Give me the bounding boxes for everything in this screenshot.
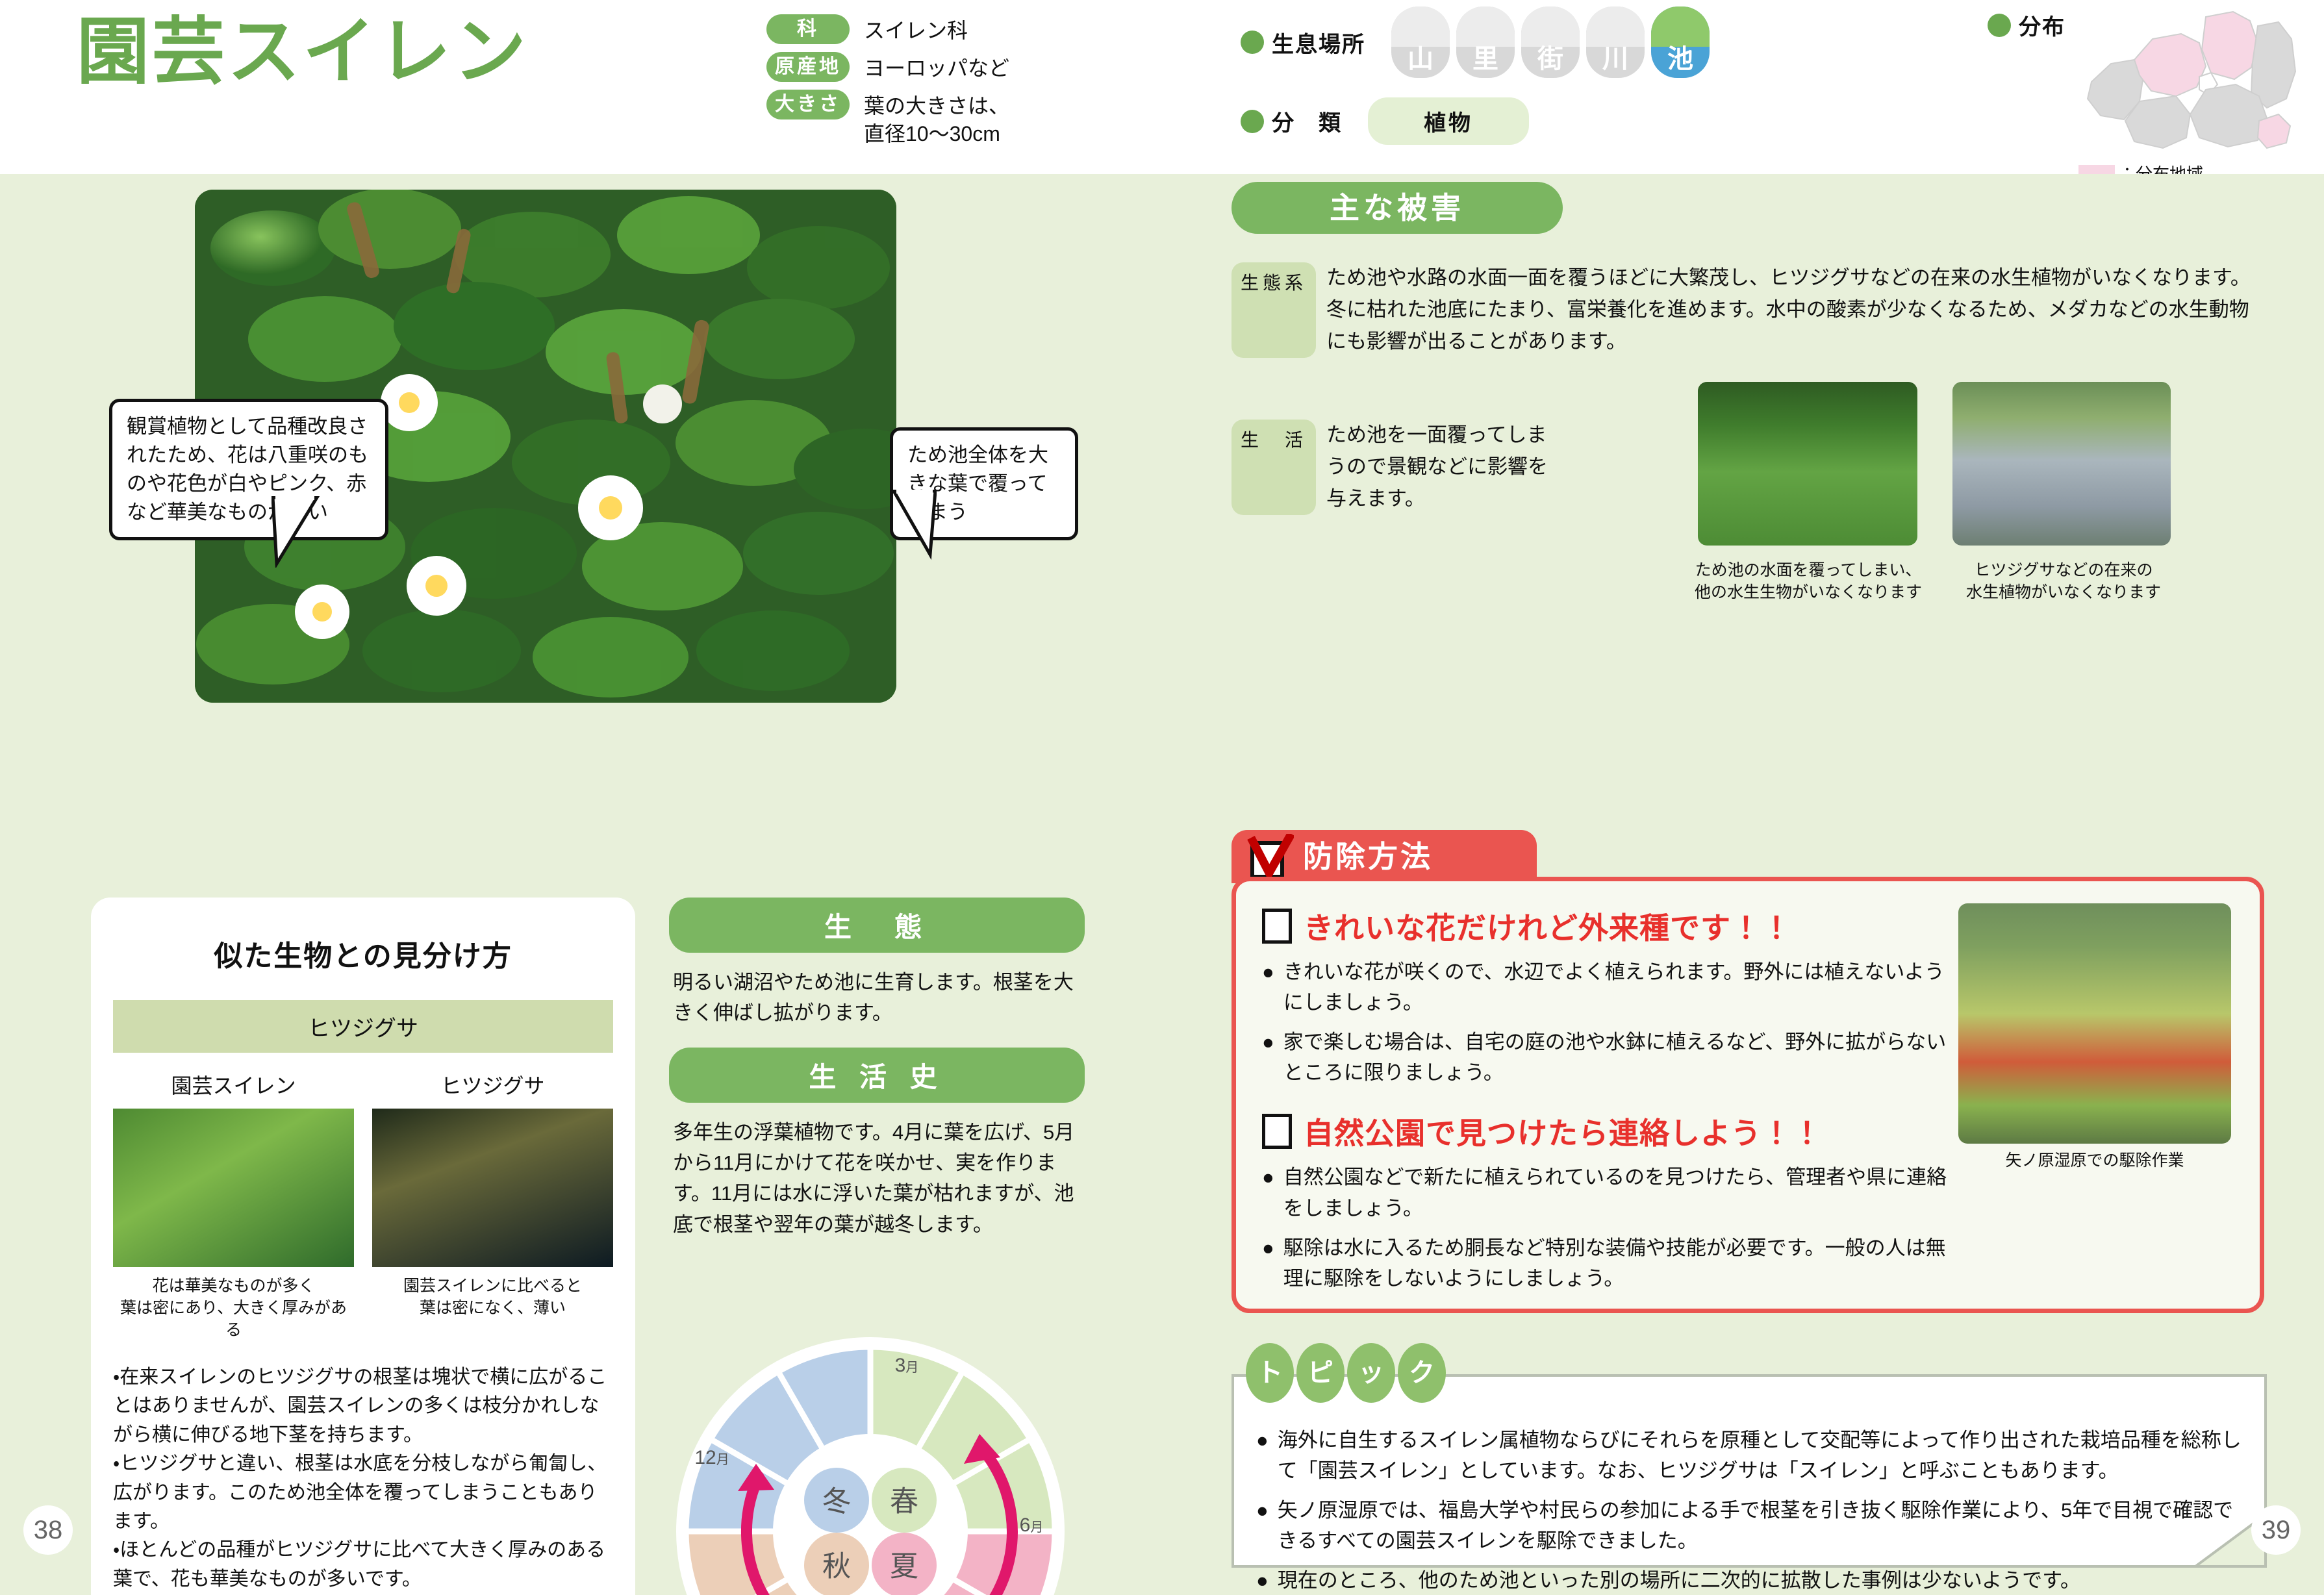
damage-photo-caption-1: ヒツジグサなどの在来の 水生植物がいなくなります — [1938, 560, 2189, 603]
meta-label-size: 大きさ — [766, 90, 850, 119]
similar-caption-0: 花は華美なものが多く 葉は密にあり、大きく厚みがある — [113, 1275, 354, 1341]
season-label-autumn: 秋 — [822, 1551, 851, 1583]
damage-caption-text-1: ヒツジグサなどの在来の 水生植物がいなくなります — [1966, 561, 2161, 601]
bullet-icon: ● — [1262, 1233, 1274, 1294]
damage-text-ecosystem: ため池や水路の水面一面を覆うほどに大繁茂し、ヒツジグサなどの在来の水生植物がいな… — [1326, 262, 2268, 358]
similar-column-garden-waterlily: 園芸スイレン 花は華美なものが多く 葉は密にあり、大きく厚みがある — [113, 1070, 354, 1341]
habitat-icon-village[interactable]: 里 — [1456, 6, 1515, 78]
ecology-text: 明るい湖沼やため池に生育します。根茎を大きく伸ばし拡がります。 — [673, 967, 1081, 1028]
bullet-dot-icon — [1988, 14, 2011, 37]
bullet-icon: ● — [1262, 957, 1274, 1018]
page-header: 園芸スイレン 科 スイレン科 原産地 ヨーロッパなど 大きさ 葉の大きさは、 直… — [0, 0, 2324, 175]
topic-bullet-text-0: 海外に自生するスイレン属植物ならびにそれらを原種として交配等によって作り出された… — [1278, 1425, 2242, 1486]
damage-text-life: ため池を一面覆ってしまうので景観などに影響を与えます。 — [1326, 420, 1560, 515]
control-photo — [1958, 903, 2231, 1144]
classification-label: 分 類 — [1272, 105, 1342, 137]
habitat-row: 生息場所 山 里 街 川 — [1241, 6, 1710, 78]
damage-photo-1 — [1952, 382, 2171, 546]
page-number-left: 38 — [23, 1505, 73, 1555]
classification-value: 植物 — [1368, 97, 1529, 145]
meta-label-family: 科 — [766, 14, 850, 44]
bullet-dot-icon — [1241, 110, 1264, 133]
habitat-icon-label-pond: 池 — [1651, 38, 1710, 75]
field-guide-spread: 園芸スイレン 科 スイレン科 原産地 ヨーロッパなど 大きさ 葉の大きさは、 直… — [0, 0, 2324, 1595]
season-label-summer: 夏 — [890, 1551, 918, 1583]
topic-bullet-text-2: 現在のところ、他のため池といった別の場所に二次的に拡散した事例は少ないようです。 — [1278, 1565, 2080, 1595]
control-bullets-1: ● 自然公園などで新たに植えられているのを見つけたら、管理者や県に連絡をしましょ… — [1262, 1162, 1951, 1293]
control-bullet-0-0: ● きれいな花が咲くので、水辺でよく植えられます。野外には植えないようにしましょ… — [1262, 957, 1951, 1018]
bullet-icon: ● — [1256, 1495, 1269, 1556]
similar-photo-1 — [372, 1109, 613, 1267]
control-head-text: 防除方法 — [1303, 840, 1433, 873]
page-number-right: 39 — [2251, 1505, 2301, 1555]
habitat-icon-label-village: 里 — [1456, 38, 1515, 75]
control-bullets-0: ● きれいな花が咲くので、水辺でよく植えられます。野外には植えないようにしましょ… — [1262, 957, 1951, 1088]
similar-species-title: 似た生物との見分け方 — [113, 933, 613, 974]
bullet-icon: ● — [1256, 1565, 1269, 1595]
habitat-icon-label-river: 川 — [1586, 38, 1645, 75]
topic-tab: ト ピ ッ ク — [1246, 1343, 1446, 1403]
damage-row-ecosystem: 生態系 ため池や水路の水面一面を覆うほどに大繁茂し、ヒツジグサなどの在来の水生植… — [1231, 262, 2271, 358]
topic-bullet-text-1: 矢ノ原湿原では、福島大学や村民らの参加による手で根茎を引き抜く駆除作業により、5… — [1278, 1495, 2242, 1556]
similar-caption-1: 園芸スイレンに比べると 葉は密になく、薄い — [372, 1275, 613, 1319]
bullet-dot-icon — [1241, 31, 1264, 54]
damage-tag-life: 生 活 — [1231, 420, 1316, 515]
habitat-icon-mountain[interactable]: 山 — [1391, 6, 1450, 78]
habitat-label: 生息場所 — [1272, 27, 1365, 58]
topic-box: ● 海外に自生するスイレン属植物ならびにそれらを原種として交配等によって作り出さ… — [1231, 1374, 2267, 1568]
topic-char-0: ト — [1246, 1343, 1294, 1403]
meta-row-origin: 原産地 ヨーロッパなど — [766, 52, 1009, 82]
control-bullet-text-0-0: きれいな花が咲くので、水辺でよく植えられます。野外には植えないようにしましょう。 — [1283, 957, 1951, 1018]
callout-ornamental-text: 観賞植物として品種改良されたため、花は八重咲のものや花色が白やピンク、赤など華美… — [127, 415, 368, 523]
distribution-map — [2072, 4, 2319, 160]
classification-row: 分 類 植物 — [1241, 97, 1710, 145]
season-label-spring: 春 — [890, 1486, 918, 1518]
damage-caption-text-0: ため池の水面を覆ってしまい、 他の水生生物がいなくなります — [1695, 561, 1922, 601]
control-bullet-text-1-1: 駆除は水に入るため胴長など特別な装備や技能が必要です。一般の人は無理に駆除をしな… — [1283, 1233, 1951, 1294]
similar-photo-0 — [113, 1109, 354, 1267]
control-bullet-text-1-0: 自然公園などで新たに植えられているのを見つけたら、管理者や県に連絡をしましょう。 — [1283, 1162, 1951, 1223]
damage-tag-ecosystem: 生態系 — [1231, 262, 1316, 358]
control-bullet-1-0: ● 自然公園などで新たに植えられているのを見つけたら、管理者や県に連絡をしましょ… — [1262, 1162, 1951, 1223]
map-icon — [2072, 4, 2319, 160]
similar-column-hitsujigusa: ヒツジグサ 園芸スイレンに比べると 葉は密になく、薄い — [372, 1070, 613, 1341]
similar-species-body: ・在来スイレンのヒツジグサの根茎は塊状で横に広がることはありませんが、園芸スイレ… — [113, 1363, 613, 1594]
control-photo-caption: 矢ノ原湿原での駆除作業 — [1958, 1150, 2231, 1172]
habitat-icon-list: 山 里 街 川 池 — [1391, 6, 1710, 78]
habitat-icon-river[interactable]: 川 — [1586, 6, 1645, 78]
topic-bullets: ● 海外に自生するスイレン属植物ならびにそれらを原種として交配等によって作り出さ… — [1234, 1377, 2264, 1595]
bullet-icon: ● — [1262, 1027, 1274, 1088]
right-page: 主な被害 生態系 ため池や水路の水面一面を覆うほどに大繁茂し、ヒツジグサなどの在… — [1161, 174, 2324, 1595]
control-heading-text-0: きれいな花だけれど外来種です！！ — [1304, 905, 1792, 948]
meta-row-size: 大きさ 葉の大きさは、 直径10〜30cm — [766, 90, 1009, 147]
meta-value-size: 葉の大きさは、 直径10〜30cm — [864, 90, 1009, 147]
checkbox-empty-icon[interactable] — [1262, 1114, 1292, 1149]
season-label-winter: 冬 — [822, 1486, 851, 1518]
damage-row-life: 生 活 ため池を一面覆ってしまうので景観などに影響を与えます。 — [1231, 420, 1686, 515]
topic-char-2: ッ — [1347, 1343, 1395, 1403]
meta-row-family: 科 スイレン科 — [766, 14, 1009, 44]
section-head-damage: 主な被害 — [1231, 182, 1563, 234]
similar-species-band: ヒツジグサ — [113, 1000, 613, 1053]
topic-bullet-2: ● 現在のところ、他のため池といった別の場所に二次的に拡散した事例は少ないようで… — [1256, 1565, 2242, 1595]
damage-photo-0 — [1698, 382, 1917, 546]
callout-tail-right-icon — [878, 490, 937, 561]
middle-column: 生 態 明るい湖沼やため池に生育します。根茎を大きく伸ばし拡がります。 生 活 … — [669, 898, 1085, 1240]
section-head-ecology: 生 態 — [669, 898, 1085, 953]
habitat-icon-label-town: 街 — [1521, 38, 1580, 75]
habitat-icon-town[interactable]: 街 — [1521, 6, 1580, 78]
page-title: 園芸スイレン — [77, 12, 529, 92]
damage-photo-caption-0: ため池の水面を覆ってしまい、 他の水生生物がいなくなります — [1681, 560, 1936, 603]
topic-char-1: ピ — [1296, 1343, 1345, 1403]
habitat-block: 生息場所 山 里 街 川 — [1241, 6, 1710, 145]
similar-column-head-0: 園芸スイレン — [113, 1070, 354, 1099]
control-photo-block: 矢ノ原湿原での駆除作業 — [1958, 903, 2231, 1172]
species-meta: 科 スイレン科 原産地 ヨーロッパなど 大きさ 葉の大きさは、 直径10〜30c… — [766, 14, 1009, 155]
control-bullet-text-0-1: 家で楽しむ場合は、自宅の庭の池や水鉢に植えるなど、野外に拡がらないところに限りま… — [1283, 1027, 1951, 1088]
control-methods-box: きれいな花だけれど外来種です！！ ● きれいな花が咲くので、水辺でよく植えられま… — [1231, 877, 2264, 1313]
control-bullet-1-1: ● 駆除は水に入るため胴長など特別な装備や技能が必要です。一般の人は無理に駆除を… — [1262, 1233, 1951, 1294]
similar-column-head-1: ヒツジグサ — [372, 1070, 613, 1099]
section-head-lifehistory: 生 活 史 — [669, 1048, 1085, 1103]
checkbox-checked-icon — [1247, 834, 1294, 882]
similar-species-columns: 園芸スイレン 花は華美なものが多く 葉は密にあり、大きく厚みがある ヒツジグサ … — [113, 1070, 613, 1341]
distribution-label: 分布 — [2019, 9, 2065, 41]
meta-value-family: スイレン科 — [864, 14, 968, 44]
bullet-icon: ● — [1256, 1425, 1269, 1486]
topic-bullet-1: ● 矢ノ原湿原では、福島大学や村民らの参加による手で根茎を引き抜く駆除作業により… — [1256, 1495, 2242, 1556]
control-bullet-0-1: ● 家で楽しむ場合は、自宅の庭の池や水鉢に植えるなど、野外に拡がらないところに限… — [1262, 1027, 1951, 1088]
meta-value-origin: ヨーロッパなど — [864, 52, 1009, 82]
bullet-icon: ● — [1262, 1162, 1274, 1223]
control-heading-text-1: 自然公園で見つけたら連絡しよう！！ — [1304, 1110, 1823, 1153]
similar-species-card: 似た生物との見分け方 ヒツジグサ 園芸スイレン 花は華美なものが多く 葉は密にあ… — [91, 898, 635, 1595]
habitat-icon-label-mountain: 山 — [1391, 38, 1450, 75]
habitat-icon-pond[interactable]: 池 — [1651, 6, 1710, 78]
lifehistory-text: 多年生の浮葉植物です。4月に葉を広げ、5月から11月にかけて花を咲かせ、実を作り… — [673, 1117, 1081, 1239]
callout-tail-left-icon — [272, 496, 330, 568]
life-cycle-wheel-chart: 冬 春 秋 夏 3月 6月 9月 12月 — [676, 1337, 1065, 1595]
checkbox-empty-icon[interactable] — [1262, 909, 1292, 944]
meta-label-origin: 原産地 — [766, 52, 850, 82]
season-wheel-svg: 冬 春 秋 夏 3月 6月 9月 12月 — [676, 1337, 1065, 1595]
topic-char-3: ク — [1398, 1343, 1446, 1403]
left-page: 観賞植物として品種改良されたため、花は八重咲のものや花色が白やピンク、赤など華美… — [0, 174, 1161, 1595]
topic-bullet-0: ● 海外に自生するスイレン属植物ならびにそれらを原種として交配等によって作り出さ… — [1256, 1425, 2242, 1486]
callout-ornamental-breeding: 観賞植物として品種改良されたため、花は八重咲のものや花色が白やピンク、赤など華美… — [109, 399, 388, 540]
section-head-control: 防除方法 — [1231, 830, 1537, 883]
